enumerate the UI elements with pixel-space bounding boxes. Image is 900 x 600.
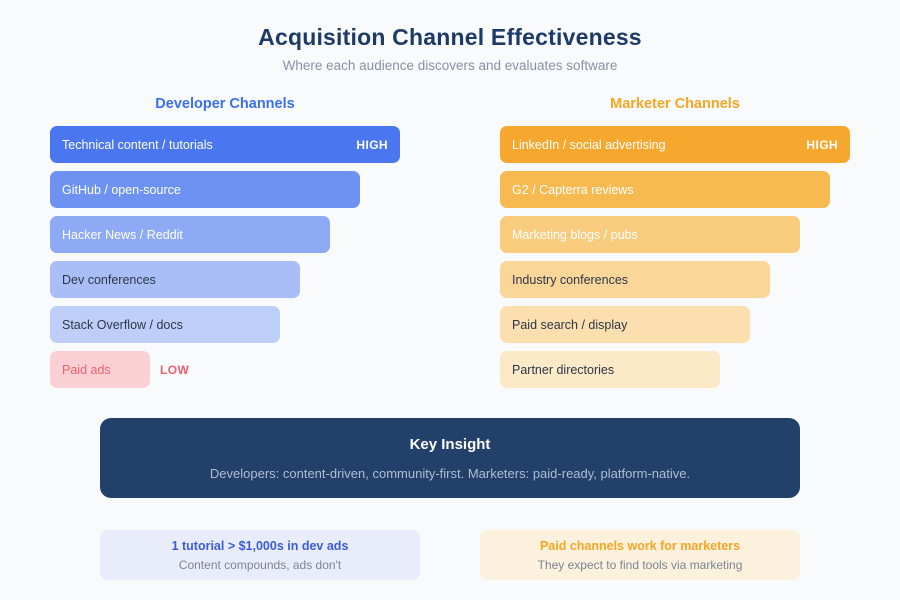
bar-label: Paid ads xyxy=(62,363,111,377)
page-subtitle: Where each audience discovers and evalua… xyxy=(0,58,900,73)
bar-label: GitHub / open-source xyxy=(62,183,181,197)
bar-label: Dev conferences xyxy=(62,273,156,287)
channel-bar[interactable]: Paid search / display xyxy=(500,306,750,343)
footer-card-subtitle: Content compounds, ads don't xyxy=(179,558,341,572)
channel-bar[interactable]: Marketing blogs / pubs xyxy=(500,216,800,253)
key-insight-text: Developers: content-driven, community-fi… xyxy=(210,466,690,481)
channel-bar[interactable]: Industry conferences xyxy=(500,261,770,298)
channel-bar[interactable]: Stack Overflow / docs xyxy=(50,306,280,343)
channel-bar[interactable]: Paid ads xyxy=(50,351,150,388)
key-insight-panel: Key Insight Developers: content-driven, … xyxy=(100,418,800,498)
channel-bar[interactable]: Dev conferences xyxy=(50,261,300,298)
bar-label: Marketing blogs / pubs xyxy=(512,228,638,242)
column-heading-developer: Developer Channels xyxy=(50,96,400,112)
footer-card-subtitle: They expect to find tools via marketing xyxy=(538,558,743,572)
footer-card-title: 1 tutorial > $1,000s in dev ads xyxy=(172,539,349,553)
bar-label: LinkedIn / social advertising xyxy=(512,138,666,152)
channel-bar[interactable]: Hacker News / Reddit xyxy=(50,216,330,253)
bar-label: Stack Overflow / docs xyxy=(62,318,183,332)
channel-bar[interactable]: LinkedIn / social advertisingHIGH xyxy=(500,126,850,163)
key-insight-title: Key Insight xyxy=(410,436,491,453)
bar-rank-badge: HIGH xyxy=(346,138,388,152)
channel-bar[interactable]: Partner directories xyxy=(500,351,720,388)
channel-bar[interactable]: GitHub / open-source xyxy=(50,171,360,208)
bar-label: Partner directories xyxy=(512,363,614,377)
bar-label: G2 / Capterra reviews xyxy=(512,183,634,197)
page-title: Acquisition Channel Effectiveness xyxy=(0,24,900,51)
footer-card-title: Paid channels work for marketers xyxy=(540,539,740,553)
column-heading-marketer: Marketer Channels xyxy=(500,96,850,112)
footer-card-developer: 1 tutorial > $1,000s in dev ads Content … xyxy=(100,530,420,580)
infographic-page: Acquisition Channel Effectiveness Where … xyxy=(0,0,900,600)
bar-label: Paid search / display xyxy=(512,318,627,332)
bar-label: Industry conferences xyxy=(512,273,628,287)
bar-rank-badge: LOW xyxy=(160,351,189,388)
footer-card-marketer: Paid channels work for marketers They ex… xyxy=(480,530,800,580)
channel-bar[interactable]: G2 / Capterra reviews xyxy=(500,171,830,208)
bar-rank-badge: HIGH xyxy=(796,138,838,152)
channel-bar[interactable]: Technical content / tutorialsHIGH xyxy=(50,126,400,163)
bar-label: Technical content / tutorials xyxy=(62,138,213,152)
bar-label: Hacker News / Reddit xyxy=(62,228,183,242)
